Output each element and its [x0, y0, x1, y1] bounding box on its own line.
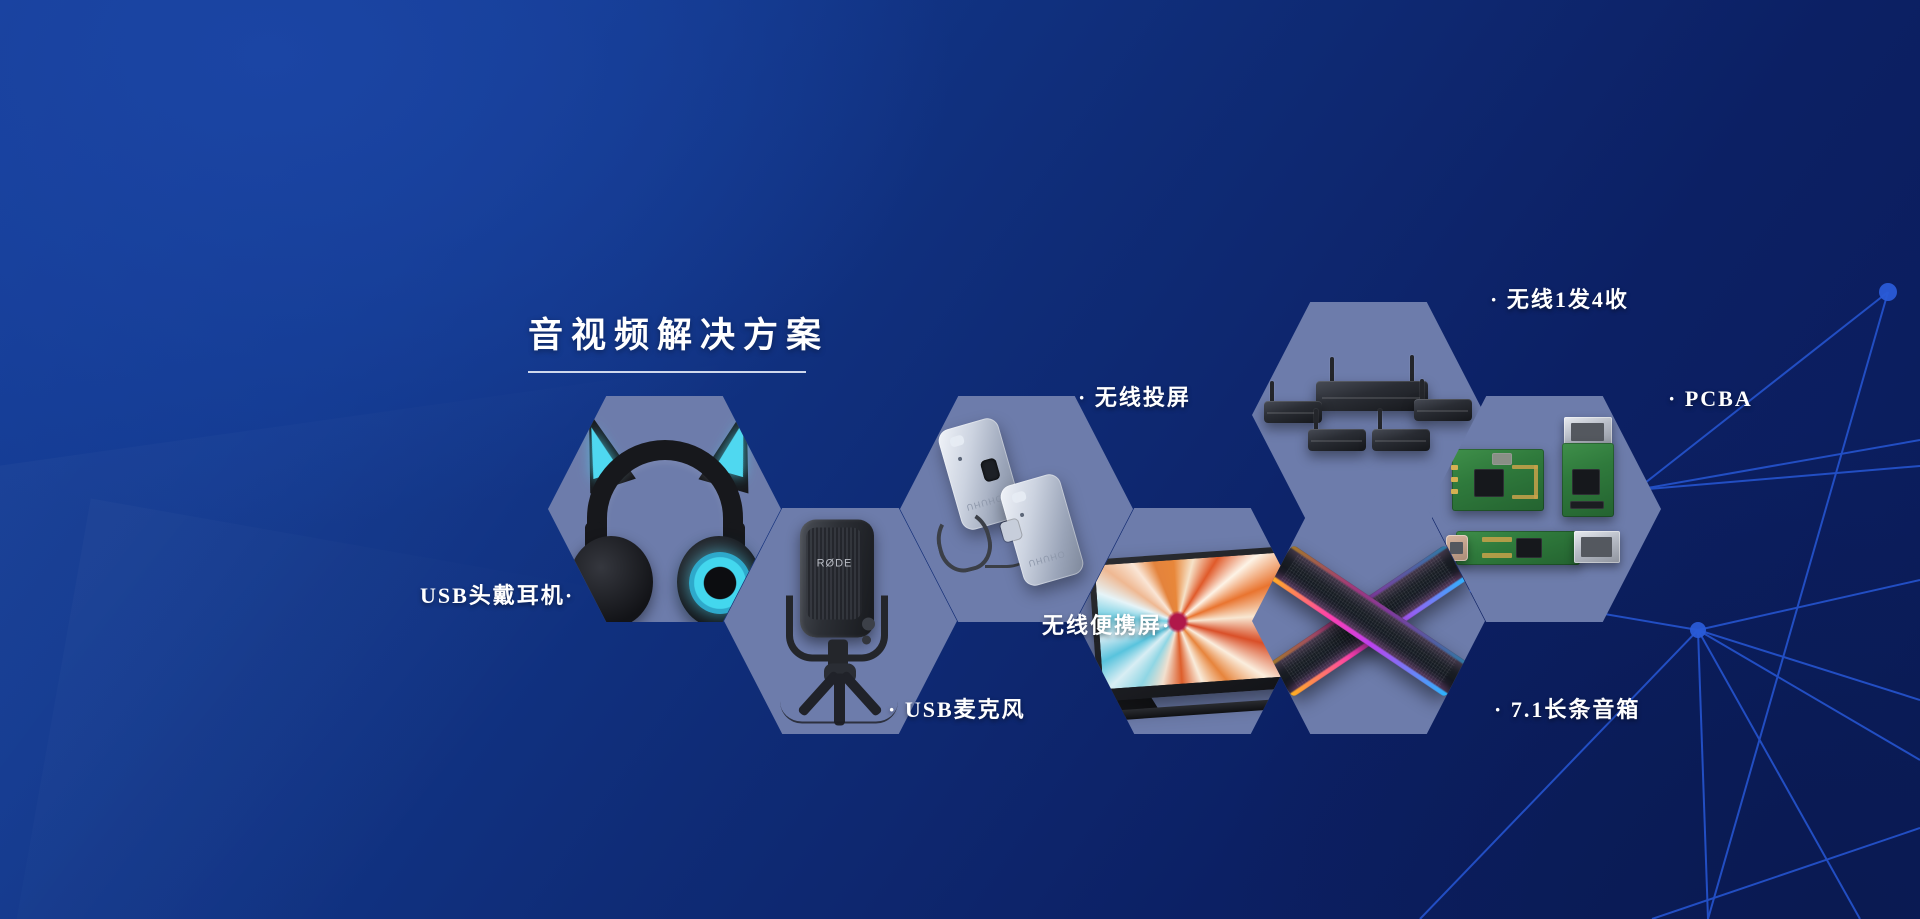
banner-stage: 音视频解决方案 RØDE: [0, 0, 1920, 919]
label-wireless-1tx-4rx-text: 无线1发4收: [1507, 287, 1629, 312]
page-title-block: 音视频解决方案: [528, 318, 829, 373]
label-portable-monitor-text: 无线便携屏: [1042, 613, 1162, 638]
label-usb-headset-bullet: ·: [565, 583, 574, 608]
label-usb-microphone-bullet: ·: [888, 697, 897, 722]
page-title: 音视频解决方案: [528, 318, 829, 353]
label-usb-headset[interactable]: USB头戴耳机·: [420, 578, 574, 610]
label-wireless-casting-bullet: ·: [1078, 385, 1087, 410]
label-portable-monitor[interactable]: 无线便携屏·: [1042, 608, 1171, 640]
label-pcba[interactable]: · PCBA: [1668, 386, 1753, 412]
label-wireless-casting[interactable]: · 无线投屏: [1078, 380, 1191, 412]
label-portable-monitor-bullet: ·: [1162, 613, 1171, 638]
label-soundbar-bullet: ·: [1494, 697, 1503, 722]
label-wireless-casting-text: 无线投屏: [1095, 385, 1191, 410]
label-wireless-1tx-4rx[interactable]: · 无线1发4收: [1490, 282, 1629, 314]
dongle-brand-text: OHUHU: [964, 493, 1003, 513]
label-usb-microphone-text: USB麦克风: [905, 697, 1026, 722]
dongle-brand-text-2: OHUHU: [1026, 549, 1065, 569]
title-underline: [528, 371, 806, 373]
label-usb-headset-text: USB头戴耳机: [420, 583, 565, 608]
microphone-brand-text: RØDE: [808, 558, 862, 570]
label-soundbar[interactable]: · 7.1长条音箱: [1494, 692, 1640, 724]
label-usb-microphone[interactable]: · USB麦克风: [888, 692, 1026, 724]
label-pcba-bullet: ·: [1668, 386, 1677, 411]
label-wireless-1tx-4rx-bullet: ·: [1490, 287, 1499, 312]
label-pcba-text: PCBA: [1685, 386, 1753, 411]
label-soundbar-text: 7.1长条音箱: [1511, 697, 1641, 722]
